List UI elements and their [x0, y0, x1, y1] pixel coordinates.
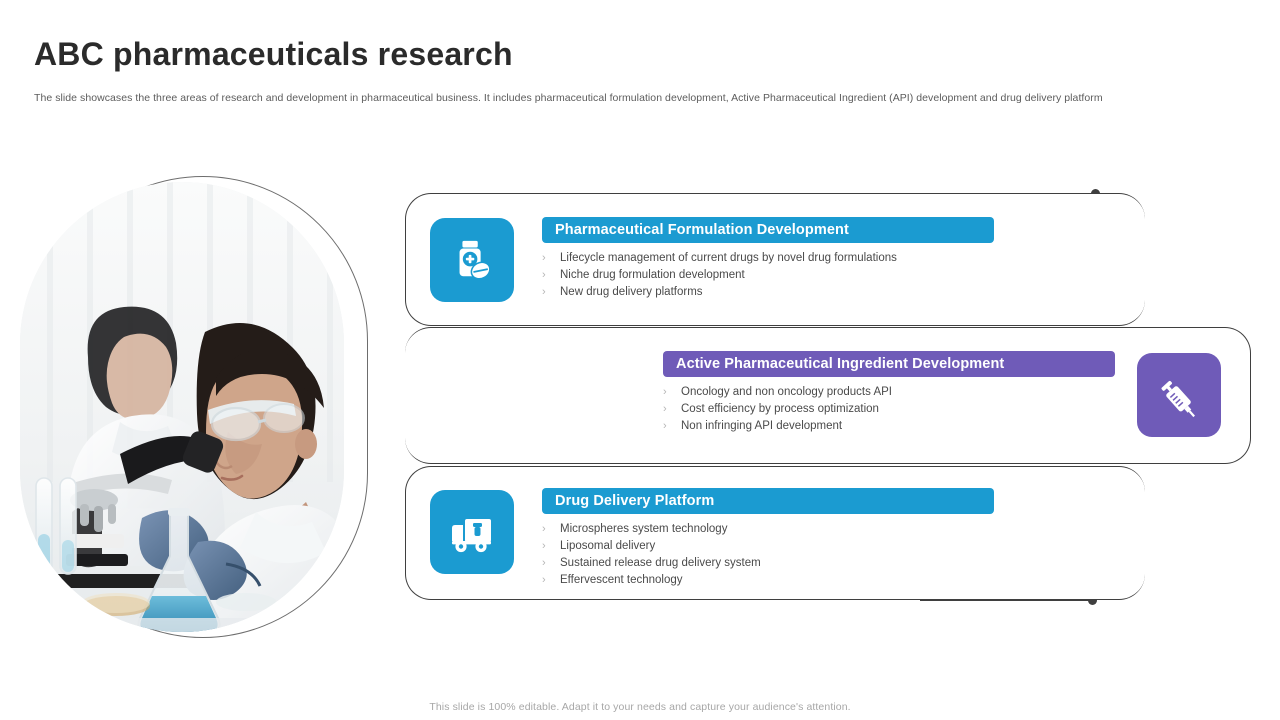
- bullet-item: › Sustained release drug delivery system: [542, 555, 761, 572]
- slide-canvas: ABC pharmaceuticals research The slide s…: [0, 0, 1280, 720]
- chevron-right-icon: ›: [542, 521, 560, 538]
- bullet-text: Sustained release drug delivery system: [560, 555, 761, 572]
- chevron-right-icon: ›: [542, 538, 560, 555]
- bullet-text: Liposomal delivery: [560, 538, 655, 555]
- bullet-item: › New drug delivery platforms: [542, 284, 897, 301]
- chevron-right-icon: ›: [663, 384, 681, 401]
- card-bullets-1: › Lifecycle management of current drugs …: [542, 250, 897, 301]
- bullet-text: Niche drug formulation development: [560, 267, 745, 284]
- bullet-text: Non infringing API development: [681, 418, 842, 435]
- card-pharmaceutical-formulation-development[interactable]: Pharmaceutical Formulation Development ›…: [405, 193, 1145, 326]
- medicine-bottle-pill-icon: [449, 237, 495, 283]
- syringe-icon: [1155, 371, 1203, 419]
- chevron-right-icon: ›: [663, 401, 681, 418]
- bullet-item: › Oncology and non oncology products API: [663, 384, 892, 401]
- card-outline: [405, 466, 1145, 600]
- card-bullets-3: › Microspheres system technology › Lipos…: [542, 521, 761, 589]
- card-title-band-1: Pharmaceutical Formulation Development: [542, 217, 994, 243]
- bullet-item: › Effervescent technology: [542, 572, 761, 589]
- card-title-band-2: Active Pharmaceutical Ingredient Develop…: [663, 351, 1115, 377]
- page-subtitle: The slide showcases the three areas of r…: [34, 91, 1248, 105]
- chevron-right-icon: ›: [542, 572, 560, 589]
- page-title: ABC pharmaceuticals research: [34, 36, 513, 73]
- delivery-truck-medicine-icon-tile: [430, 490, 514, 574]
- card-drug-delivery-platform[interactable]: Drug Delivery Platform › Microspheres sy…: [405, 466, 1145, 600]
- connector-line-card3: [920, 600, 1093, 601]
- photo-frame: [20, 182, 344, 632]
- bullet-text: Effervescent technology: [560, 572, 683, 589]
- chevron-right-icon: ›: [542, 284, 560, 301]
- bullet-text: Oncology and non oncology products API: [681, 384, 892, 401]
- chevron-right-icon: ›: [542, 267, 560, 284]
- chevron-right-icon: ›: [542, 555, 560, 572]
- chevron-right-icon: ›: [542, 250, 560, 267]
- card-title-3: Drug Delivery Platform: [555, 493, 714, 509]
- bullet-item: › Microspheres system technology: [542, 521, 761, 538]
- bullet-text: Microspheres system technology: [560, 521, 727, 538]
- bullet-text: Cost efficiency by process optimization: [681, 401, 879, 418]
- chevron-right-icon: ›: [663, 418, 681, 435]
- bullet-item: › Non infringing API development: [663, 418, 892, 435]
- card-title-2: Active Pharmaceutical Ingredient Develop…: [676, 356, 1004, 372]
- laboratory-researchers-photo: [20, 182, 344, 632]
- medicine-bottle-pill-icon-tile: [430, 218, 514, 302]
- bullet-item: › Liposomal delivery: [542, 538, 761, 555]
- delivery-truck-medicine-icon: [448, 508, 496, 556]
- footer-note: This slide is 100% editable. Adapt it to…: [0, 701, 1280, 713]
- bullet-item: › Niche drug formulation development: [542, 267, 897, 284]
- photo-block: [14, 168, 366, 646]
- bullet-text: Lifecycle management of current drugs by…: [560, 250, 897, 267]
- card-title-band-3: Drug Delivery Platform: [542, 488, 994, 514]
- bullet-item: › Lifecycle management of current drugs …: [542, 250, 897, 267]
- bullet-item: › Cost efficiency by process optimizatio…: [663, 401, 892, 418]
- syringe-icon-tile: [1137, 353, 1221, 437]
- card-bullets-2: › Oncology and non oncology products API…: [663, 384, 892, 435]
- card-title-1: Pharmaceutical Formulation Development: [555, 222, 849, 238]
- card-active-pharmaceutical-ingredient-development[interactable]: Active Pharmaceutical Ingredient Develop…: [405, 327, 1251, 464]
- bullet-text: New drug delivery platforms: [560, 284, 703, 301]
